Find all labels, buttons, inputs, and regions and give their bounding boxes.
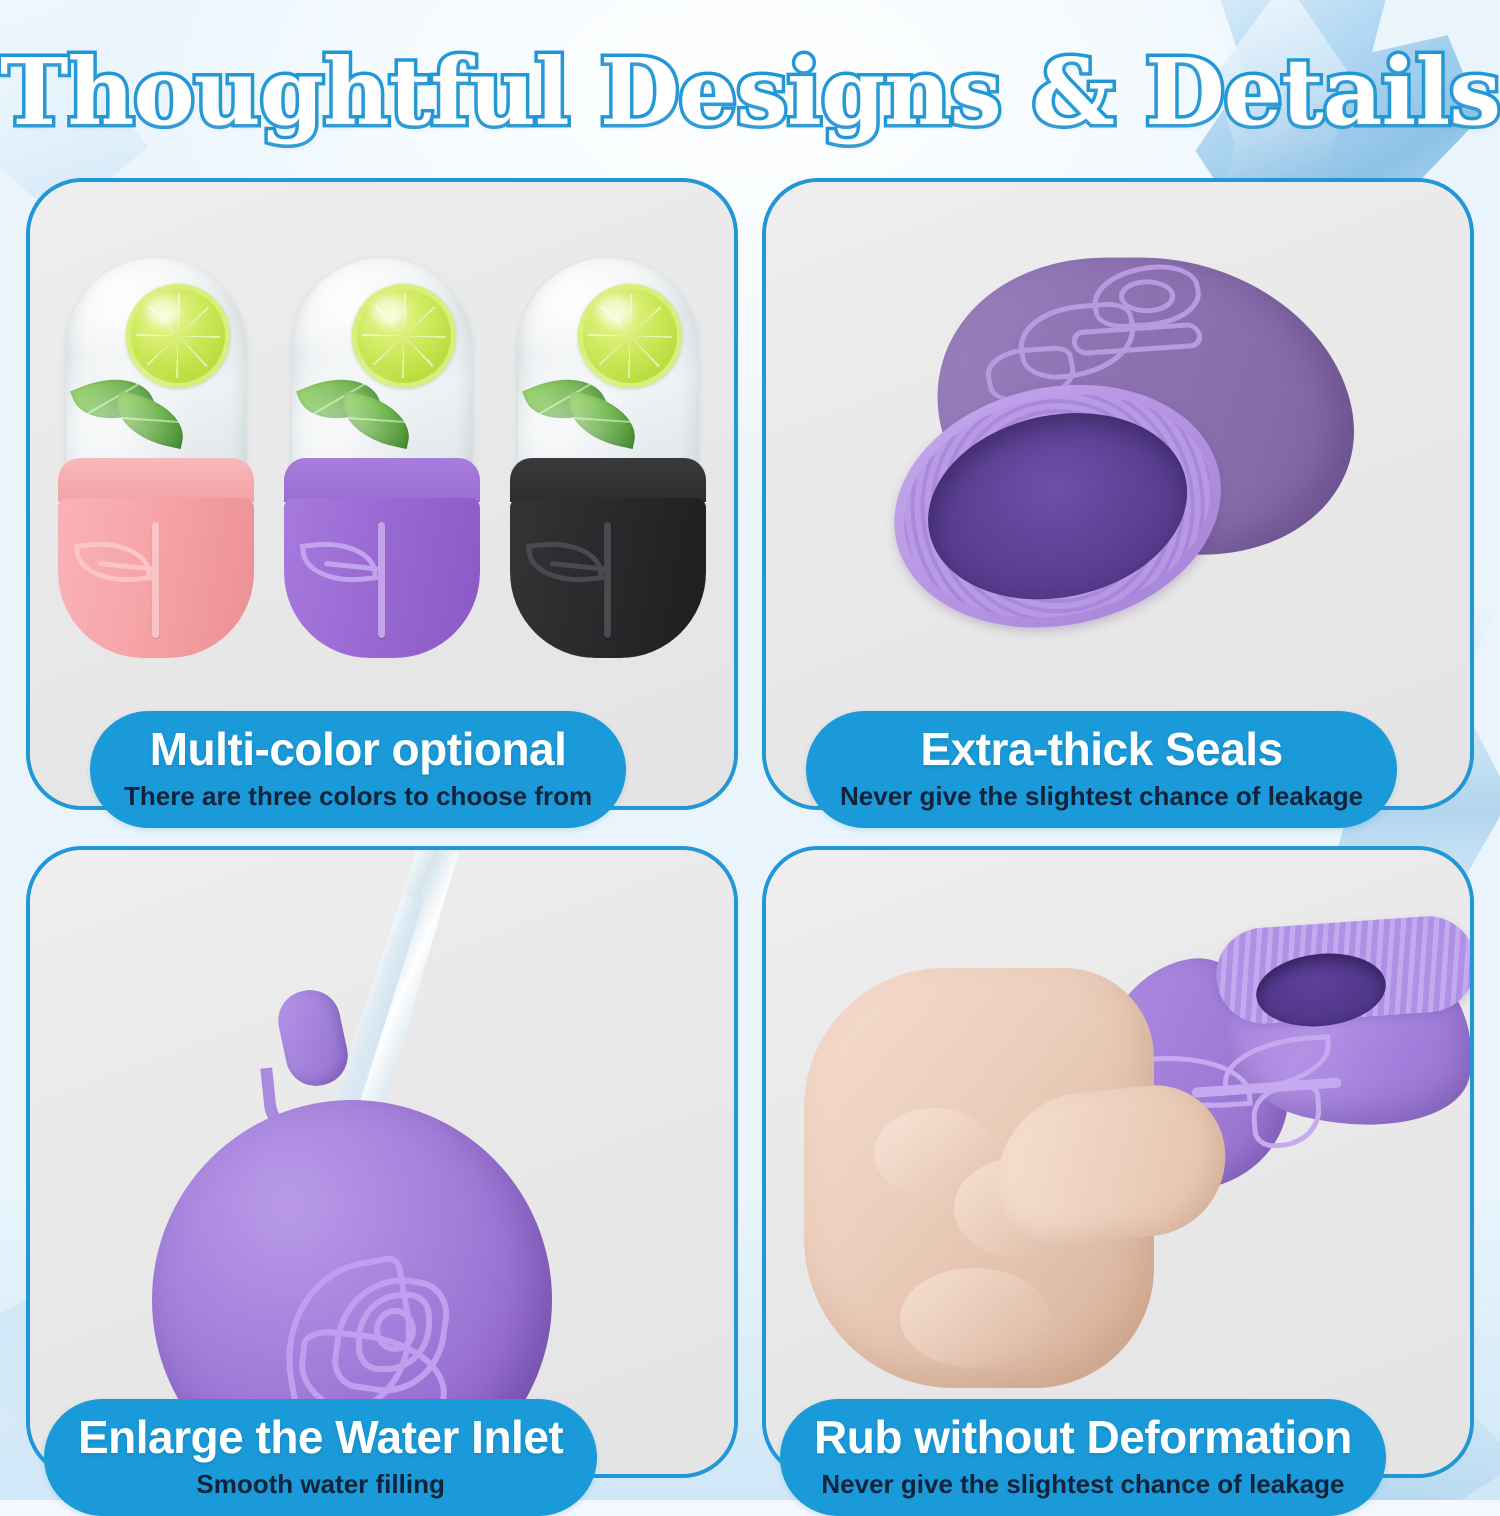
panel-image-enlarge-water-inlet	[30, 850, 734, 1474]
feature-label-extra-thick-seals: Extra-thick Seals Never give the slighte…	[806, 711, 1397, 828]
mint-leaf	[336, 391, 416, 449]
feature-panel-multi-color: Multi-color optional There are three col…	[26, 178, 738, 810]
feature-title: Multi-color optional	[124, 725, 592, 774]
water-filling-scene	[30, 850, 734, 1474]
panel-image-rub-without-deformation	[766, 850, 1470, 1474]
feature-panel-enlarge-water-inlet: Enlarge the Water Inlet Smooth water fil…	[26, 846, 738, 1478]
purple-silicone-cup-inverted	[861, 229, 1377, 651]
feature-title: Extra-thick Seals	[840, 725, 1363, 774]
mint-leaf	[70, 364, 156, 434]
feature-panel-grid: Multi-color optional There are three col…	[26, 178, 1474, 1478]
feature-subtitle: Never give the slightest chance of leaka…	[814, 1468, 1352, 1501]
page-title-wrap: Thoughtful Designs & Details	[0, 38, 1500, 146]
feature-title: Rub without Deformation	[814, 1413, 1352, 1462]
ice-dome-black	[518, 258, 698, 488]
mint-leaf	[296, 364, 382, 434]
feature-title: Enlarge the Water Inlet	[78, 1413, 563, 1462]
mint-leaves-icon	[528, 370, 640, 454]
leaf-emboss-icon	[526, 522, 676, 642]
ice-dome-purple	[292, 258, 472, 488]
mint-leaf	[110, 391, 190, 449]
hand-squeeze-scene	[766, 850, 1470, 1474]
cup-collar	[58, 458, 254, 502]
ice-mold-pink	[58, 258, 254, 658]
lime-slice-icon	[578, 284, 682, 388]
emboss-stem	[378, 522, 385, 638]
ice-mold-black	[510, 258, 706, 658]
emboss-stem	[152, 522, 159, 638]
silicone-cup-black	[510, 458, 706, 658]
feature-subtitle: Smooth water filling	[78, 1468, 563, 1501]
mint-leaves-icon	[302, 370, 414, 454]
cup-collar	[284, 458, 480, 502]
page-title: Thoughtful Designs & Details	[0, 38, 1500, 146]
leaf-emboss-icon	[300, 522, 450, 642]
three-ice-molds	[30, 228, 734, 658]
lime-slice-icon	[126, 284, 230, 388]
feature-label-rub-without-deformation: Rub without Deformation Never give the s…	[780, 1399, 1386, 1516]
mint-leaf	[522, 364, 608, 434]
leaf-emboss-icon	[74, 522, 224, 642]
feature-label-multi-color: Multi-color optional There are three col…	[90, 711, 626, 828]
silicone-cup-pink	[58, 458, 254, 658]
feature-subtitle: There are three colors to choose from	[124, 780, 592, 813]
mint-leaves-icon	[76, 370, 188, 454]
emboss-stem	[604, 522, 611, 638]
feature-panel-extra-thick-seals: Extra-thick Seals Never give the slighte…	[762, 178, 1474, 810]
feature-panel-rub-without-deformation: Rub without Deformation Never give the s…	[762, 846, 1474, 1478]
feature-subtitle: Never give the slightest chance of leaka…	[840, 780, 1363, 813]
ice-mold-purple	[284, 258, 480, 658]
lime-slice-icon	[352, 284, 456, 388]
mint-leaf	[562, 391, 642, 449]
silicone-cup-purple	[284, 458, 480, 658]
knuckle	[900, 1268, 1050, 1368]
feature-label-enlarge-water-inlet: Enlarge the Water Inlet Smooth water fil…	[44, 1399, 597, 1516]
ice-dome-pink	[66, 258, 246, 488]
cup-collar	[510, 458, 706, 502]
